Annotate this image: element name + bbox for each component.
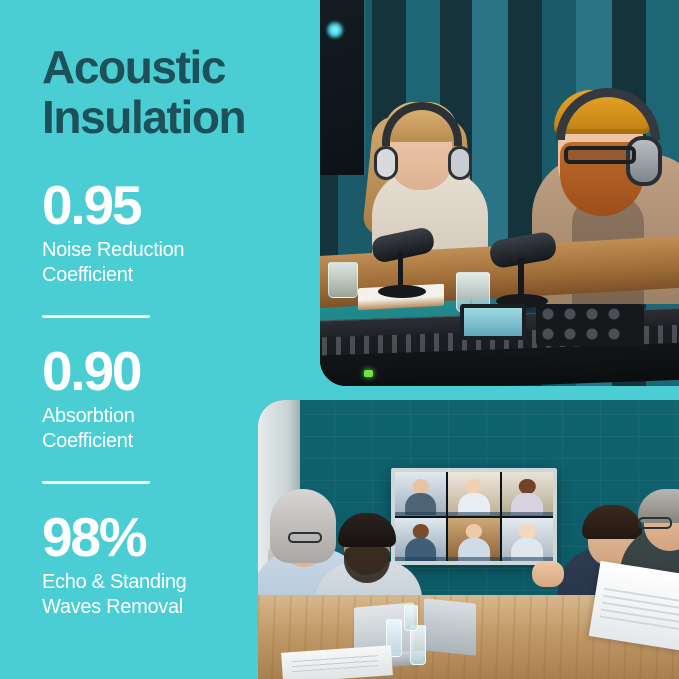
studio-light-glow: [326, 21, 344, 39]
stat-value: 0.90: [42, 342, 320, 400]
console-knob-grid: [536, 304, 644, 346]
stat-item-echo-removal: 98% Echo & Standing Waves Removal: [42, 508, 320, 620]
video-call-tile: [395, 518, 446, 562]
stat-label-line-2: Coefficient: [42, 264, 133, 286]
microphone-base: [378, 285, 426, 298]
water-glass: [328, 262, 358, 298]
stat-divider: [42, 481, 150, 484]
stat-label-line-1: Echo & Standing: [42, 571, 187, 593]
video-call-tile: [395, 472, 446, 516]
stat-label: Noise Reduction Coefficient: [42, 238, 282, 288]
stat-label: Absorbtion Coefficient: [42, 404, 282, 454]
tile-namebar: [502, 512, 553, 516]
participant-head: [412, 524, 428, 539]
studio-photo: [320, 0, 679, 386]
headphone-cup-right: [448, 146, 472, 180]
participant-head: [466, 479, 482, 494]
video-call-tile: [502, 518, 553, 562]
stat-divider: [42, 315, 150, 318]
page-title-line-1: Acoustic: [42, 41, 225, 93]
page-title-line-2: Insulation: [42, 91, 245, 143]
console-led-indicator: [364, 370, 373, 377]
info-panel: Acoustic Insulation 0.95 Noise Reduction…: [0, 0, 320, 679]
video-call-screen: [391, 468, 557, 565]
laptop-screen: [424, 598, 476, 655]
stat-label-line-1: Absorbtion: [42, 405, 135, 427]
stat-value: 0.95: [42, 176, 320, 234]
tile-namebar: [448, 512, 499, 516]
tile-namebar: [395, 557, 446, 561]
eyeglasses-icon: [564, 146, 636, 164]
tile-namebar: [448, 557, 499, 561]
video-call-grid: [395, 472, 553, 561]
stats-list: 0.95 Noise Reduction Coefficient 0.90 Ab…: [42, 176, 320, 620]
stat-value: 98%: [42, 508, 320, 566]
eyeglasses-icon: [638, 517, 672, 529]
video-call-tile: [502, 472, 553, 516]
video-call-tile: [448, 472, 499, 516]
page-title: Acoustic Insulation: [42, 42, 312, 142]
headphone-cup-left: [374, 146, 398, 180]
stat-item-noise-reduction: 0.95 Noise Reduction Coefficient: [42, 176, 320, 288]
console-display: [460, 304, 526, 340]
participant-head: [466, 524, 482, 539]
stat-label-line-2: Waves Removal: [42, 596, 183, 618]
water-glass: [404, 605, 418, 631]
stat-item-absorbtion: 0.90 Absorbtion Coefficient: [42, 342, 320, 454]
stat-label-line-2: Coefficient: [42, 430, 133, 452]
participant-head: [519, 524, 535, 539]
participant-head: [519, 479, 535, 494]
video-call-tile: [448, 518, 499, 562]
gesturing-hand: [532, 561, 564, 587]
tile-namebar: [395, 512, 446, 516]
stat-label-line-1: Noise Reduction: [42, 239, 184, 261]
stat-label: Echo & Standing Waves Removal: [42, 570, 282, 620]
conference-room-photo: [258, 400, 679, 679]
water-glass: [410, 625, 426, 665]
participant-head: [412, 479, 428, 494]
